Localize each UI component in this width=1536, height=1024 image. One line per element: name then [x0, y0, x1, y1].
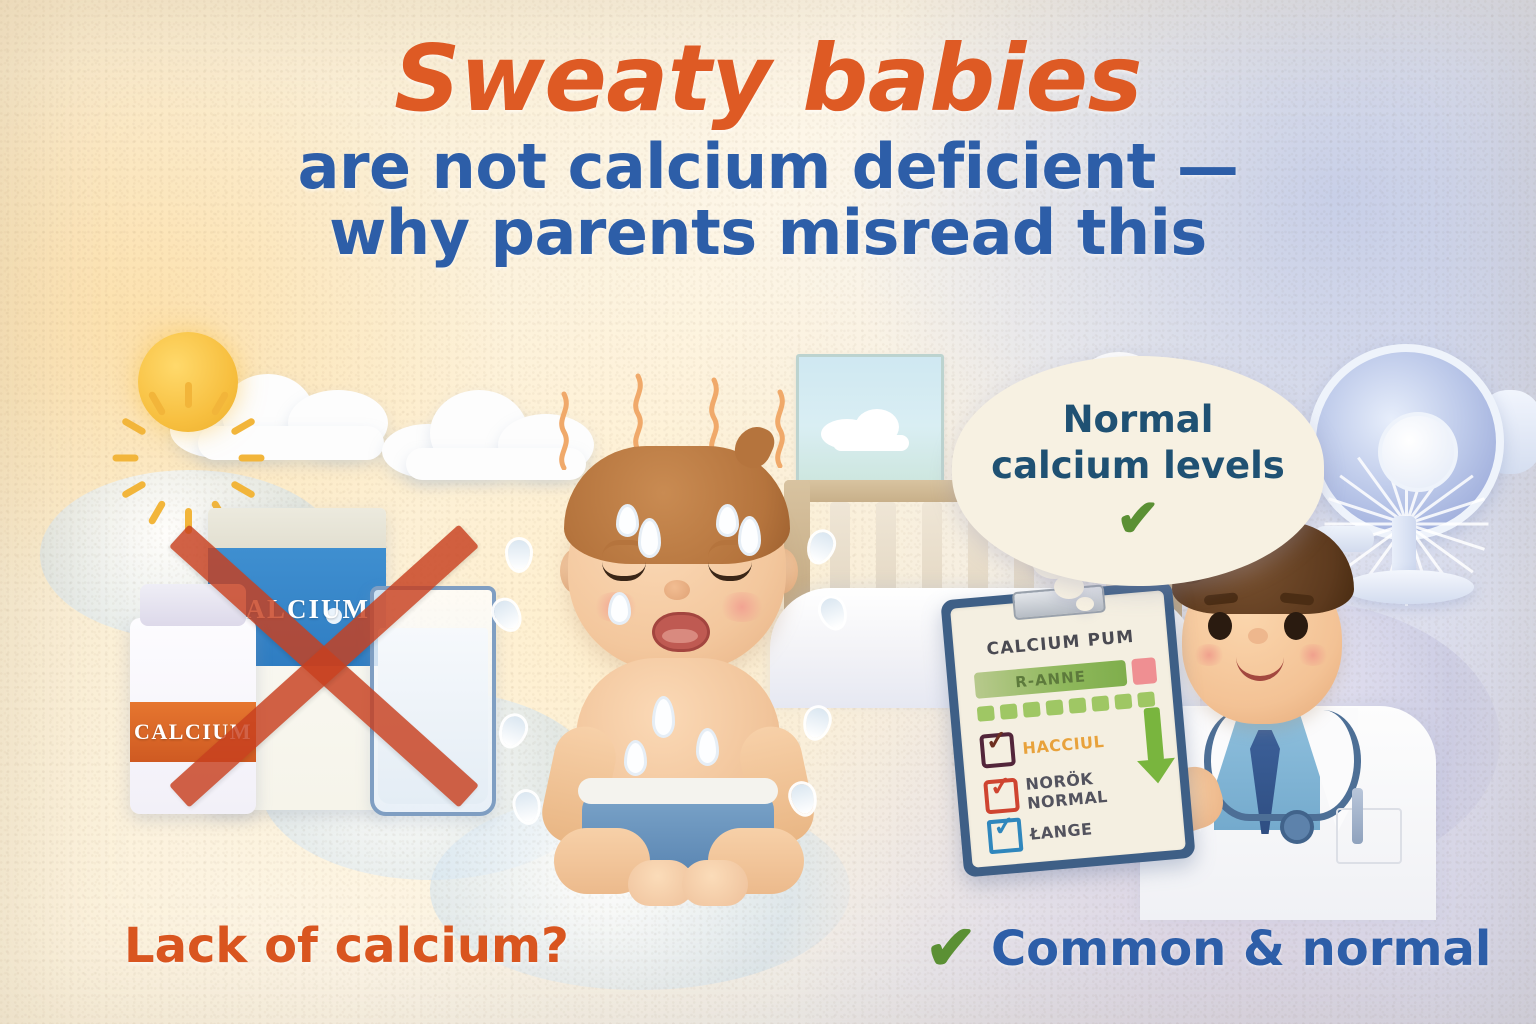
clipboard-title: CALCIUM PUM [953, 624, 1168, 663]
speech-bubble: Normal calcium levels ✔ [952, 356, 1324, 586]
heat-squiggle-icon [772, 386, 788, 468]
doctor-cheek-right [1296, 644, 1330, 666]
bubble-line-2: calcium levels [991, 443, 1285, 489]
check-glyph: ✓ [992, 812, 1016, 840]
clipboard-row-3[interactable]: ✓ ŁANGE [987, 811, 1094, 854]
sweat-drop-icon [608, 592, 631, 625]
glass-of-milk [370, 586, 496, 816]
poster-canvas: CALCIUM CALCIUM [0, 0, 1536, 1024]
stethoscope-bell [1280, 810, 1314, 844]
subtitle-line-2: why parents misread this [0, 198, 1536, 267]
caption-right-label: Common & normal [991, 921, 1491, 977]
doctor-cheek-left [1192, 644, 1226, 666]
sun-icon [112, 306, 264, 458]
stethoscope-icon [1206, 710, 1356, 840]
calcium-products-group: CALCIUM CALCIUM [120, 500, 510, 840]
baby-cheek-right [718, 592, 766, 622]
bottle-cap [140, 584, 246, 626]
checkbox-checked-icon[interactable]: ✓ [987, 817, 1024, 854]
fan-hub [1378, 412, 1458, 492]
fan-cage [1308, 344, 1504, 540]
coat-pocket [1336, 808, 1402, 864]
sweat-drop-icon [806, 529, 837, 565]
caption-left: Lack of calcium? [124, 918, 569, 974]
clipboard-range-bar: R-ANNE [974, 660, 1128, 699]
heat-squiggle-icon [556, 388, 572, 470]
bubble-line-1: Normal [1063, 397, 1214, 443]
doctor-eye-right [1284, 612, 1308, 640]
doctor-eye-left [1208, 612, 1232, 640]
subtitle-line-1: are not calcium deficient — [0, 132, 1536, 201]
bottle-label: CALCIUM [130, 702, 256, 762]
clipboard[interactable]: CALCIUM PUM R-ANNE ✓ HACCIUL ✓ NORÖK [940, 580, 1195, 877]
clipboard-row-3-label: ŁANGE [1029, 819, 1093, 843]
sweat-drop-icon [616, 504, 639, 537]
title-block: Sweaty babies are not calcium deficient … [0, 34, 1536, 267]
heat-squiggle-icon [630, 370, 646, 452]
baby-nose [664, 580, 690, 600]
baby-mouth [652, 612, 710, 652]
doctor-nose [1248, 628, 1268, 644]
caption-right: ✔ Common & normal [925, 918, 1491, 980]
green-check-icon: ✔ [925, 918, 977, 980]
sweat-drop-icon [802, 706, 831, 741]
sweat-drop-icon [624, 740, 647, 776]
calcium-supplement-bottle: CALCIUM [130, 618, 256, 814]
check-glyph: ✓ [989, 772, 1013, 800]
sweat-drop-icon [716, 504, 739, 537]
checkbox-checked-icon[interactable]: ✓ [983, 778, 1020, 815]
checkbox-checked-icon[interactable]: ✓ [979, 732, 1016, 769]
page-title: Sweaty babies [0, 34, 1536, 124]
clipboard-row-1[interactable]: ✓ HACCIUL [979, 724, 1105, 769]
heat-squiggle-icon [706, 374, 722, 456]
sweating-baby [520, 440, 840, 910]
green-check-icon: ✔ [1116, 493, 1160, 545]
sweat-drop-icon [508, 540, 530, 570]
green-down-arrow-icon [1143, 707, 1164, 762]
clipboard-row-1-label: HACCIUL [1022, 731, 1105, 757]
clipboard-range-bar-end [1131, 657, 1157, 685]
pen-icon [1352, 788, 1363, 844]
clipboard-paper: CALCIUM PUM R-ANNE ✓ HACCIUL ✓ NORÖK [950, 590, 1186, 868]
check-glyph: ✓ [985, 726, 1009, 754]
baby-foot-right [682, 860, 748, 906]
